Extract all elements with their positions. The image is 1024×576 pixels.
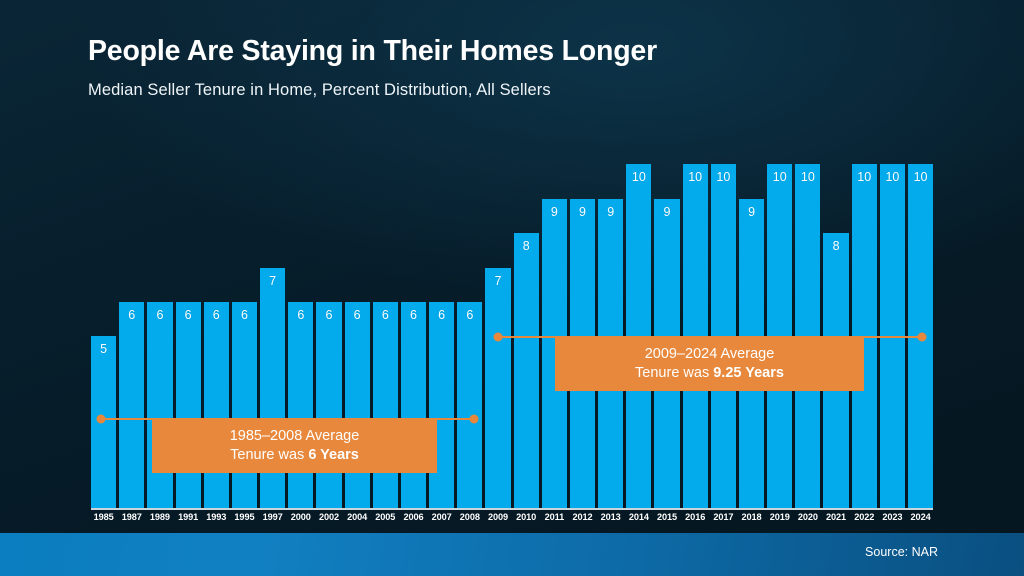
x-tick-label: 2009	[485, 512, 510, 522]
bar-value-label: 10	[857, 171, 871, 184]
x-tick-label: 2019	[767, 512, 792, 522]
bar-column: 6	[119, 130, 144, 508]
bar: 6	[429, 302, 454, 508]
bar-value-label: 6	[297, 309, 304, 322]
x-tick-label: 2021	[823, 512, 848, 522]
bar: 6	[288, 302, 313, 508]
slide-canvas: People Are Staying in Their Homes Longer…	[0, 0, 1024, 576]
bar: 6	[401, 302, 426, 508]
bar-column: 9	[570, 130, 595, 508]
bar-column: 10	[683, 130, 708, 508]
bar-value-label: 6	[466, 309, 473, 322]
x-tick-label: 2015	[654, 512, 679, 522]
bar-column: 9	[654, 130, 679, 508]
x-tick-label: 2012	[570, 512, 595, 522]
bar-column: 7	[485, 130, 510, 508]
annotation-line2-value: 6 Years	[308, 447, 359, 463]
bar: 6	[147, 302, 172, 508]
annotation-box-2009-2024: 2009–2024 Average Tenure was 9.25 Years	[555, 338, 864, 391]
bar-value-label: 9	[748, 206, 755, 219]
x-tick-label: 2006	[401, 512, 426, 522]
bar-column: 10	[767, 130, 792, 508]
bar-column: 10	[795, 130, 820, 508]
bar-value-label: 9	[607, 206, 614, 219]
bar: 8	[514, 233, 539, 508]
bar: 6	[373, 302, 398, 508]
x-axis-tick-labels: 1985198719891991199319951997200020022004…	[91, 512, 933, 522]
bar-value-label: 7	[495, 275, 502, 288]
x-tick-label: 2010	[514, 512, 539, 522]
bar-value-label: 10	[914, 171, 928, 184]
page-title: People Are Staying in Their Homes Longer	[88, 36, 968, 67]
bar-value-label: 6	[438, 309, 445, 322]
bar-value-label: 10	[885, 171, 899, 184]
bar-column: 8	[514, 130, 539, 508]
x-tick-label: 2008	[457, 512, 482, 522]
x-tick-label: 2002	[316, 512, 341, 522]
bar-column: 10	[852, 130, 877, 508]
x-tick-label: 1995	[232, 512, 257, 522]
bar-value-label: 6	[382, 309, 389, 322]
x-tick-label: 1985	[91, 512, 116, 522]
bar: 6	[345, 302, 370, 508]
x-tick-label: 2011	[542, 512, 567, 522]
annotation-dot-left-2009-2024	[494, 333, 503, 342]
annotation-line2: Tenure was 6 Years	[152, 446, 437, 465]
bar: 6	[232, 302, 257, 508]
annotation-line1: 2009–2024 Average	[555, 345, 864, 364]
bar-value-label: 6	[354, 309, 361, 322]
annotation-line2-value: 9.25 Years	[713, 365, 784, 381]
bar-value-label: 10	[688, 171, 702, 184]
page-subtitle: Median Seller Tenure in Home, Percent Di…	[88, 81, 968, 100]
bar-value-label: 6	[156, 309, 163, 322]
bar-value-label: 7	[269, 275, 276, 288]
bar-value-label: 6	[241, 309, 248, 322]
bar: 6	[176, 302, 201, 508]
x-tick-label: 1991	[176, 512, 201, 522]
x-axis-baseline	[91, 508, 933, 510]
x-tick-label: 2023	[880, 512, 905, 522]
bar-column: 9	[598, 130, 623, 508]
x-tick-label: 2017	[711, 512, 736, 522]
bar-column: 10	[626, 130, 651, 508]
x-tick-label: 2007	[429, 512, 454, 522]
bar: 6	[316, 302, 341, 508]
bar-column: 10	[908, 130, 933, 508]
bar-value-label: 8	[833, 240, 840, 253]
x-tick-label: 1989	[147, 512, 172, 522]
source-note: Source: NAR	[865, 545, 938, 559]
bar: 7	[485, 268, 510, 509]
bar-value-label: 10	[716, 171, 730, 184]
bar-column: 9	[739, 130, 764, 508]
bar-value-label: 10	[773, 171, 787, 184]
x-tick-label: 2018	[739, 512, 764, 522]
x-tick-label: 2014	[626, 512, 651, 522]
bar-value-label: 9	[551, 206, 558, 219]
bar-value-label: 9	[579, 206, 586, 219]
x-tick-label: 2016	[683, 512, 708, 522]
bar-value-label: 6	[410, 309, 417, 322]
bar-value-label: 6	[185, 309, 192, 322]
x-tick-label: 2000	[288, 512, 313, 522]
bar: 6	[457, 302, 482, 508]
bar-column: 10	[711, 130, 736, 508]
x-tick-label: 2022	[852, 512, 877, 522]
annotation-dot-right-2009-2024	[918, 333, 927, 342]
bar: 6	[119, 302, 144, 508]
annotation-box-1985-2008: 1985–2008 Average Tenure was 6 Years	[152, 420, 437, 473]
footer-band: Source: NAR	[0, 533, 1024, 576]
bar-column: 5	[91, 130, 116, 508]
bar-column: 9	[542, 130, 567, 508]
bar-value-label: 10	[632, 171, 646, 184]
bar-value-label: 6	[213, 309, 220, 322]
bar-column: 6	[457, 130, 482, 508]
bar-value-label: 5	[100, 343, 107, 356]
bar-column: 8	[823, 130, 848, 508]
x-tick-label: 1993	[204, 512, 229, 522]
annotation-line2-prefix: Tenure was	[635, 365, 713, 381]
x-tick-label: 2004	[345, 512, 370, 522]
bar-value-label: 6	[128, 309, 135, 322]
header: People Are Staying in Their Homes Longer…	[88, 36, 968, 100]
bar-value-label: 6	[325, 309, 332, 322]
x-tick-label: 2013	[598, 512, 623, 522]
annotation-dot-right-1985-2008	[470, 415, 479, 424]
chart-plot-area: 56666676666666789991091010910108101010 1…	[91, 130, 933, 508]
annotation-line1: 1985–2008 Average	[152, 427, 437, 446]
annotation-line2-prefix: Tenure was	[230, 447, 308, 463]
annotation-line2: Tenure was 9.25 Years	[555, 364, 864, 383]
x-tick-label: 2020	[795, 512, 820, 522]
annotation-dot-left-1985-2008	[97, 415, 106, 424]
bar-value-label: 10	[801, 171, 815, 184]
x-tick-label: 1997	[260, 512, 285, 522]
bar: 6	[204, 302, 229, 508]
x-tick-label: 1987	[119, 512, 144, 522]
bar-value-label: 9	[664, 206, 671, 219]
x-tick-label: 2024	[908, 512, 933, 522]
x-tick-label: 2005	[373, 512, 398, 522]
bar-value-label: 8	[523, 240, 530, 253]
bar-column: 10	[880, 130, 905, 508]
